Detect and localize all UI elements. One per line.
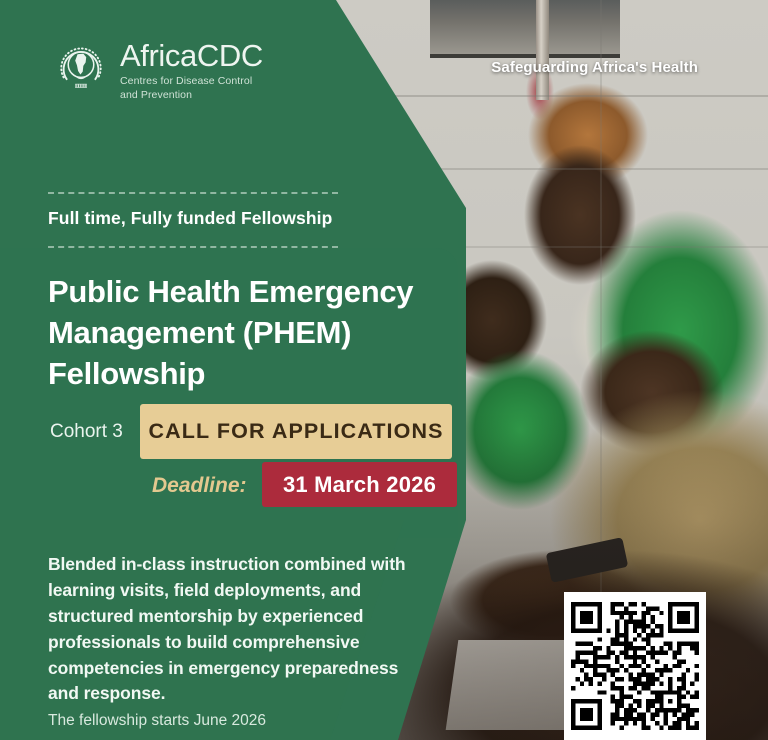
qr-code-container[interactable] xyxy=(564,592,706,740)
call-for-applications-label: CALL FOR APPLICATIONS xyxy=(148,419,443,444)
page-title: Public Health Emergency Management (PHEM… xyxy=(48,272,448,395)
call-for-applications-banner: CALL FOR APPLICATIONS xyxy=(140,404,452,459)
deadline-label: Deadline: xyxy=(152,474,247,498)
brand-subtitle-line2: and Prevention xyxy=(120,89,263,103)
brand-tagline: Safeguarding Africa's Health xyxy=(491,59,698,76)
divider-bottom xyxy=(48,246,338,248)
brand-name: AfricaCDC xyxy=(120,40,263,71)
eyebrow-text: Full time, Fully funded Fellowship xyxy=(48,208,332,229)
deadline-value: 31 March 2026 xyxy=(283,472,436,498)
start-date-note: The fellowship starts June 2026 xyxy=(48,712,266,730)
description-text: Blended in-class instruction combined wi… xyxy=(48,552,418,707)
brand-logo-text: AfricaCDC Centres for Disease Control an… xyxy=(120,38,263,102)
brand-subtitle-line1: Centres for Disease Control xyxy=(120,75,263,89)
qr-code-icon[interactable] xyxy=(571,599,699,733)
divider-top xyxy=(48,192,338,194)
poster-canvas: AfricaCDC Centres for Disease Control an… xyxy=(0,0,768,740)
cohort-label: Cohort 3 xyxy=(50,421,123,443)
africa-cdc-emblem-icon xyxy=(52,38,110,96)
brand-logo: AfricaCDC Centres for Disease Control an… xyxy=(52,38,263,102)
brand-subtitle: Centres for Disease Control and Preventi… xyxy=(120,75,263,102)
deadline-badge: 31 March 2026 xyxy=(262,462,457,507)
